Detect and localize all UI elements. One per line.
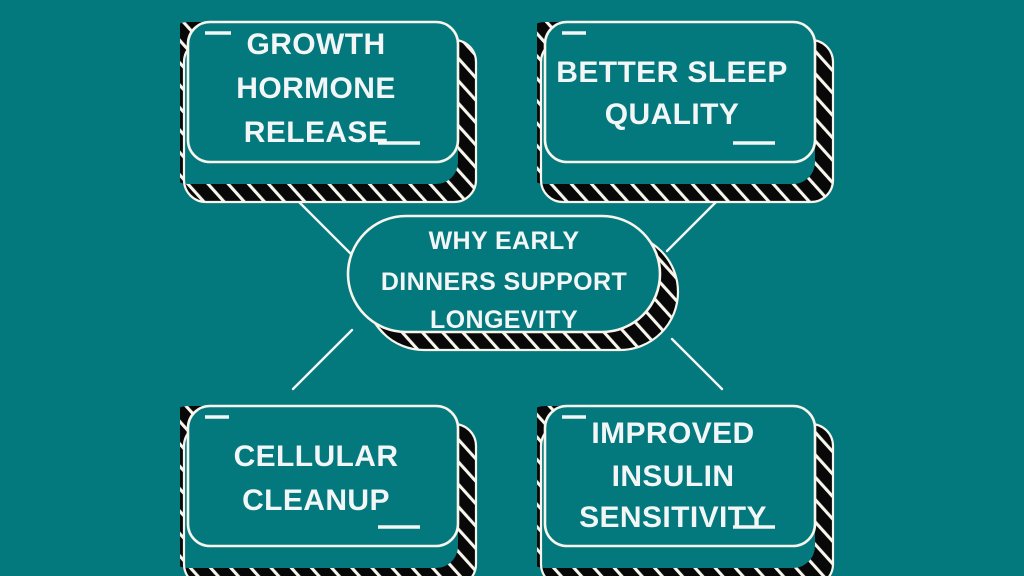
node-label-line-2: QUALITY xyxy=(605,98,739,131)
node-card[interactable] xyxy=(188,406,458,546)
center-label-line-3: LONGEVITY xyxy=(430,306,578,334)
node-label-line-2: HORMONE xyxy=(236,72,395,105)
node-label-line-1: BETTER SLEEP xyxy=(556,56,788,89)
diagram-canvas: GROWTH HORMONE RELEASE BETTER SLEEP QUAL… xyxy=(0,0,1024,576)
mindmap-diagram: GROWTH HORMONE RELEASE BETTER SLEEP QUAL… xyxy=(0,0,1024,576)
node-label-line-1: CELLULAR xyxy=(234,440,399,473)
node-label-line-2: INSULIN xyxy=(612,460,735,493)
node-label-line-1: IMPROVED xyxy=(591,417,754,450)
center-label-line-2: DINNERS SUPPORT xyxy=(381,268,627,296)
node-label-line-3: SENSITIVITY xyxy=(579,501,767,534)
center-label-line-1: WHY EARLY xyxy=(429,227,580,255)
node-label-line-3: RELEASE xyxy=(244,116,389,149)
node-card[interactable] xyxy=(545,22,815,162)
node-label-line-1: GROWTH xyxy=(246,28,385,61)
node-label-line-2: CLEANUP xyxy=(242,484,390,517)
